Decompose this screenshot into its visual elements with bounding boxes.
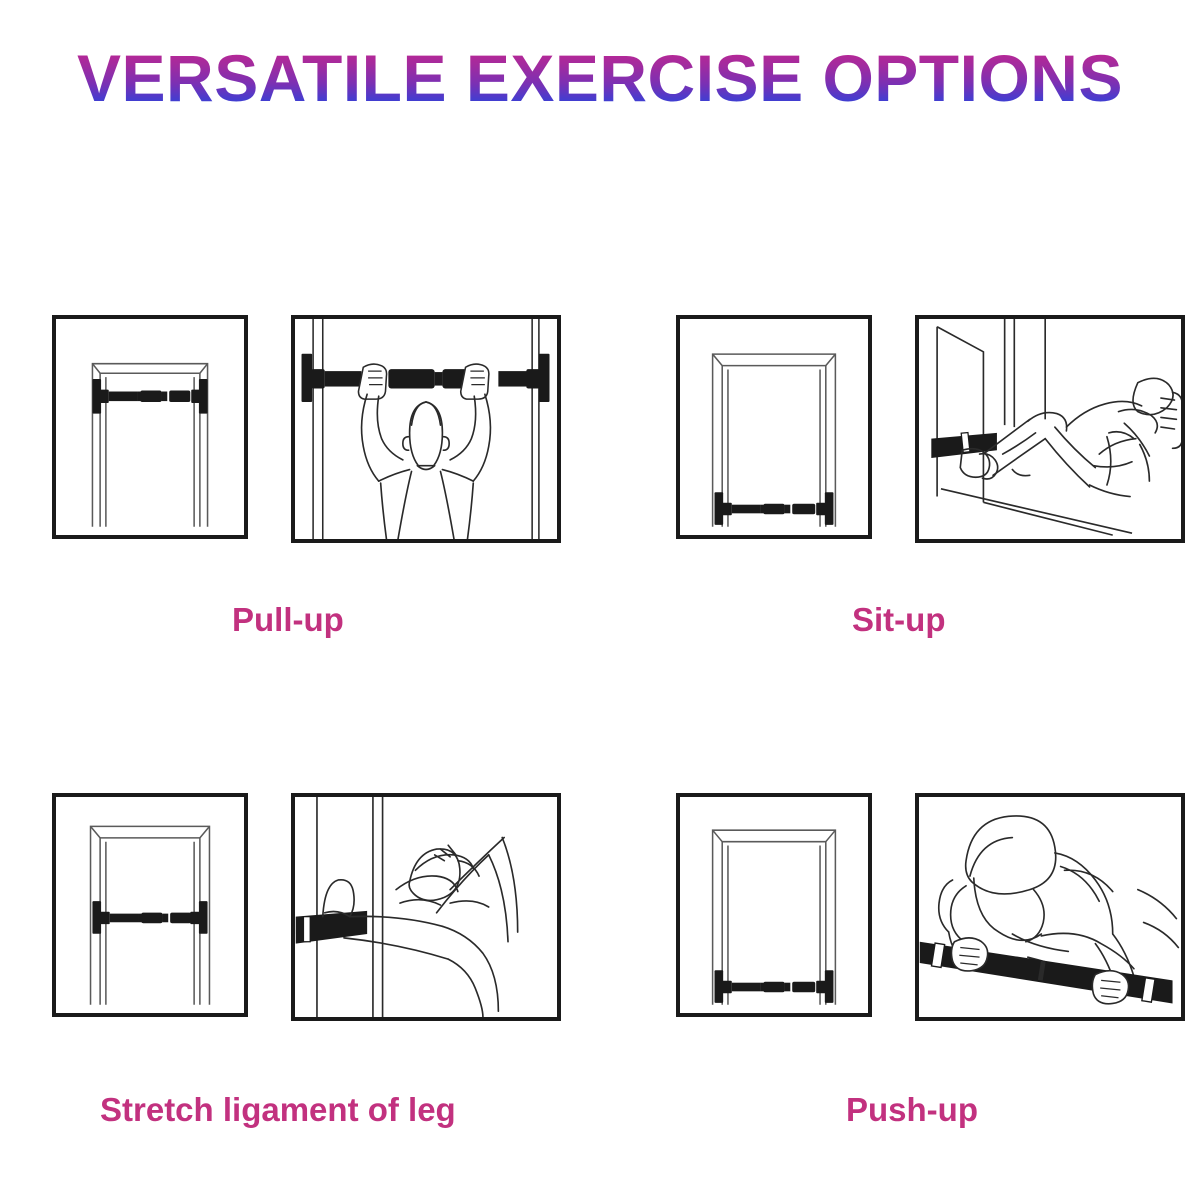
- illustration-pair-pull-up: [52, 315, 561, 543]
- illustration-pair-stretch: [52, 793, 561, 1021]
- illustration-pair-push-up: [676, 793, 1185, 1021]
- pull-up-bar: [715, 970, 834, 1003]
- action-diagram-pull-up: [291, 315, 561, 543]
- doorway-bar-low-icon: [680, 319, 868, 535]
- exercise-card-push-up[interactable]: Push-up: [676, 793, 1185, 1129]
- exercise-card-pull-up[interactable]: Pull-up: [52, 315, 561, 639]
- doorway-diagram-push-up: [676, 793, 872, 1017]
- doorway-diagram-stretch: [52, 793, 248, 1017]
- exercise-card-sit-up[interactable]: Sit-up: [676, 315, 1185, 639]
- exercise-label-sit-up: Sit-up: [852, 601, 1185, 639]
- exercise-label-push-up: Push-up: [846, 1091, 1185, 1129]
- person-sit-up-icon: [919, 319, 1181, 539]
- action-diagram-stretch: [291, 793, 561, 1021]
- doorway-diagram-pull-up: [52, 315, 248, 539]
- pull-up-bar: [715, 492, 834, 525]
- doorway-bar-low-icon: [680, 797, 868, 1013]
- exercise-card-stretch-ligament-of-leg[interactable]: Stretch ligament of leg: [52, 793, 561, 1129]
- exercise-label-pull-up: Pull-up: [232, 601, 561, 639]
- doorway-diagram-sit-up: [676, 315, 872, 539]
- exercise-options-infographic: VERSATILE EXERCISE OPTIONS: [0, 0, 1200, 1200]
- doorway-bar-mid-icon: [56, 797, 244, 1013]
- person-figure: [362, 394, 491, 539]
- action-diagram-sit-up: [915, 315, 1185, 543]
- hand-grip-right: [1092, 971, 1128, 1004]
- doorway-bar-high-icon: [56, 319, 244, 535]
- hand-grip-left: [358, 364, 386, 399]
- exercise-label-stretch: Stretch ligament of leg: [100, 1091, 561, 1129]
- pull-up-bar: [302, 354, 550, 402]
- exercise-grid: Pull-up: [0, 0, 1200, 1200]
- pull-up-bar: [92, 901, 207, 934]
- action-diagram-push-up: [915, 793, 1185, 1021]
- person-push-up-icon: [919, 797, 1181, 1017]
- person-pull-up-icon: [295, 319, 557, 539]
- pull-up-bar: [92, 379, 207, 414]
- illustration-pair-sit-up: [676, 315, 1185, 543]
- person-leg-stretch-icon: [295, 797, 557, 1017]
- hand-grip-left: [951, 938, 987, 971]
